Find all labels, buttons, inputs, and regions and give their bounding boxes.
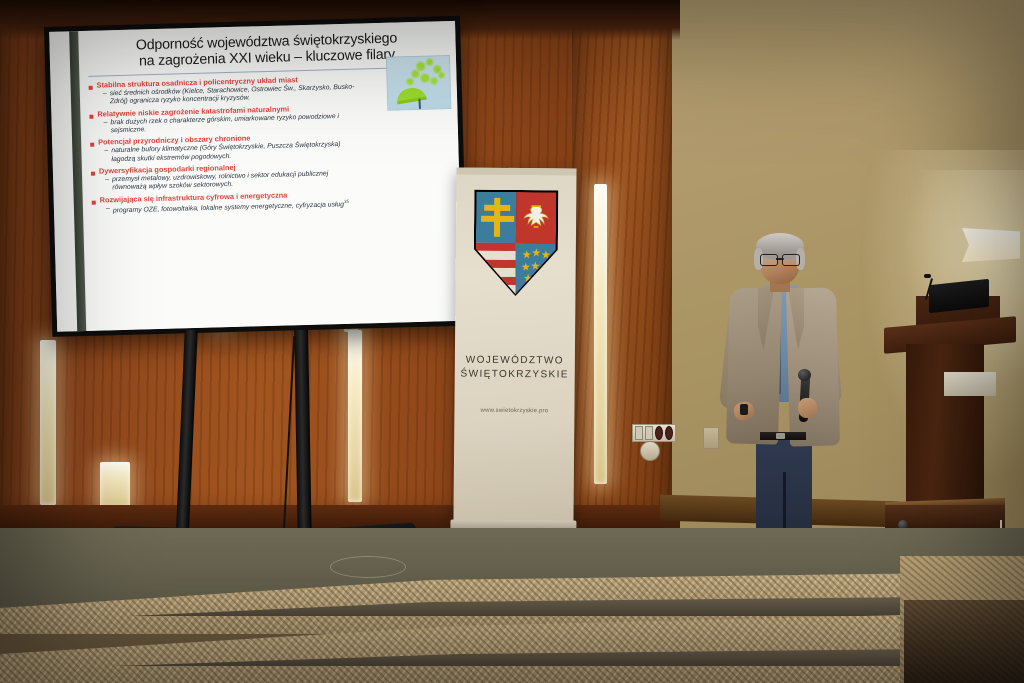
dash-icon: –	[104, 119, 108, 127]
right-hand	[798, 398, 817, 418]
umbrella-virus-illustration	[386, 55, 451, 111]
wall-light-patch	[100, 462, 130, 508]
dash-icon: –	[105, 176, 109, 184]
dash-icon: –	[106, 205, 110, 213]
red-square-bullet-icon	[92, 200, 96, 204]
lectern-front-plate	[944, 372, 996, 396]
lectern-column	[906, 344, 984, 508]
belt-buckle	[776, 433, 785, 439]
wall-sconce-icon	[962, 228, 1020, 262]
floor-socket-cover	[330, 556, 406, 578]
shadow-corner	[904, 600, 1024, 683]
red-square-bullet-icon	[89, 114, 93, 118]
conference-photo-scene: Odporność województwa świętokrzyskiego n…	[0, 0, 1024, 683]
wall-light-strip	[594, 184, 607, 484]
red-square-bullet-icon	[91, 172, 95, 176]
slide-content: Odporność województwa świętokrzyskiego n…	[79, 21, 463, 331]
wall-light-strip	[40, 340, 56, 505]
white-eagle-icon	[520, 197, 552, 238]
glasses-icon	[760, 254, 800, 264]
banner-org-name: WOJEWÓDZTWO ŚWIĘTOKRZYSKIE	[455, 353, 575, 381]
screen-surface: Odporność województwa świętokrzyskiego n…	[49, 21, 463, 332]
footnote-marker: 35	[344, 199, 349, 204]
wall-light-strip	[348, 330, 362, 502]
banner-url: www.swietokrzyskie.pro	[454, 407, 574, 414]
red-square-bullet-icon	[89, 86, 93, 90]
red-square-bullet-icon	[90, 143, 94, 147]
presentation-screen[interactable]: Odporność województwa świętokrzyskiego n…	[44, 16, 468, 337]
dash-icon: –	[104, 148, 108, 156]
umbrella-icon	[395, 86, 427, 105]
dash-icon: –	[103, 90, 107, 98]
jacket-left-panel	[726, 287, 782, 444]
crest-quarter-cross	[476, 192, 516, 243]
floor-box-outlet[interactable]	[640, 441, 660, 461]
coat-of-arms	[473, 190, 558, 297]
crest-quarter-eagle	[516, 192, 556, 243]
crest-quarter-stars	[515, 243, 555, 294]
rollup-banner: WOJEWÓDZTWO ŚWIĘTOKRZYSKIE www.swietokrz…	[453, 167, 576, 524]
crest-quarter-bars	[475, 243, 515, 294]
microphone-head-icon	[798, 369, 811, 381]
presentation-clicker-icon[interactable]	[740, 404, 748, 415]
power-outlet-plate[interactable]	[632, 424, 676, 442]
banner-top-rail	[456, 167, 576, 175]
presenter	[716, 236, 844, 554]
microphone-head-icon	[924, 274, 931, 278]
